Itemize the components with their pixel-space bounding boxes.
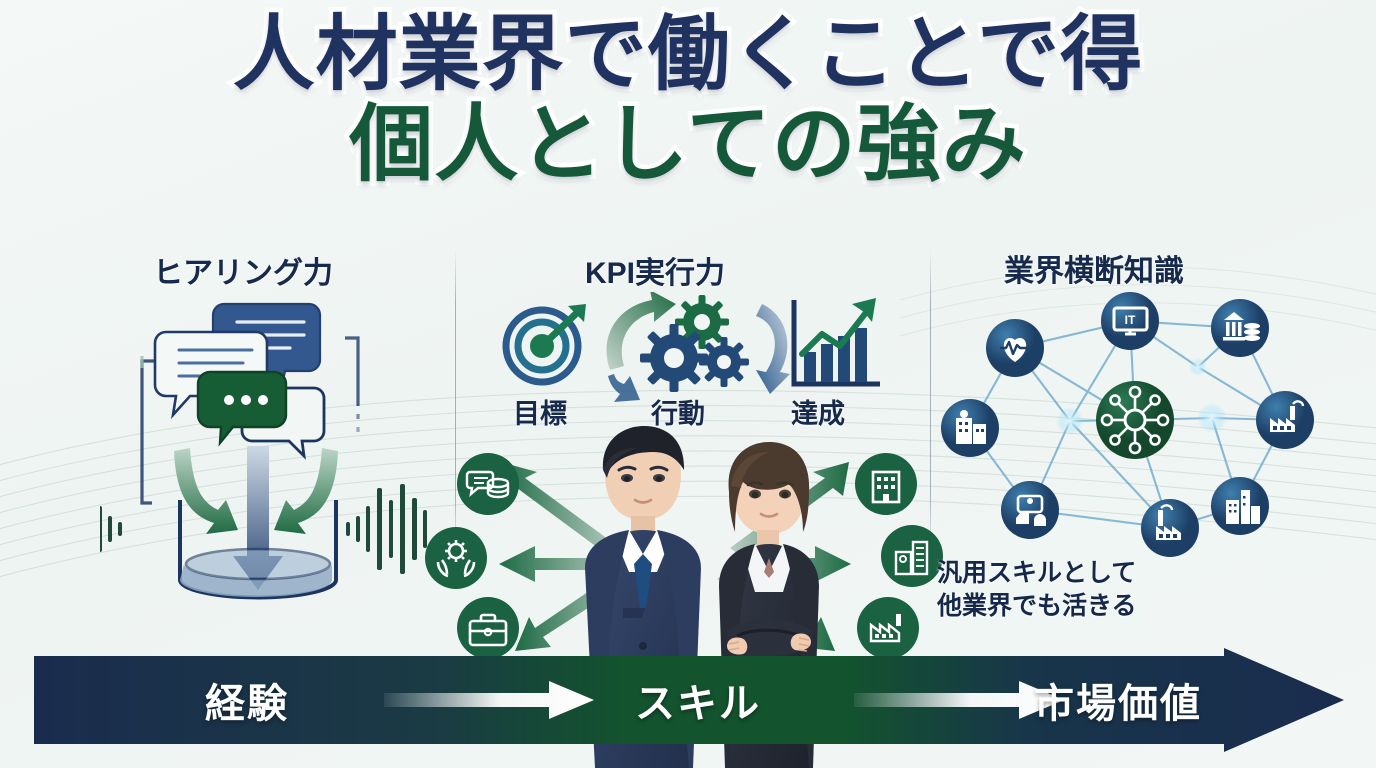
transferable-skills-note: 汎用スキルとして 他業界でも活きる [937,557,1137,623]
page-title: 人材業界で働くことで得 個人としての強み [0,14,1376,186]
it-monitor-icon: IT [1101,292,1159,350]
city-building-icon [1211,477,1269,535]
title-line-1: 人材業界で働くことで得 [0,14,1376,96]
bar-chart-growth-icon [794,298,880,384]
hub-icon [1096,381,1174,459]
city-buildings-chip-icon [880,524,944,588]
banner-stage-experience: 経験 [205,648,289,752]
title-line-2: 個人としての強み [0,102,1376,186]
kpi-cycle-illustration [492,292,892,402]
factory-icon [1256,391,1314,449]
column-heading-kpi: KPI実行力 [585,248,725,292]
banner-stage-market-value: 市場価値 [1034,648,1202,752]
industry-network-illustration: IT [930,288,1330,568]
factory-2-icon [1141,499,1199,557]
banner-stage-skill: スキル [635,648,761,752]
hearing-illustration [100,288,430,613]
infographic-canvas: 人材業界で働くことで得 個人としての強み ヒアリング力 KPI実行力 業界横断知… [0,0,1376,768]
note-line-2: 他業界でも活きる [937,592,1137,620]
svg-text:IT: IT [1125,313,1136,327]
waveform-left-icon [100,484,122,574]
target-icon [506,304,586,382]
note-line-1: 汎用スキルとして [937,559,1136,587]
office-building-icon [941,399,999,457]
retail-icon [1001,481,1059,539]
chat-database-icon [456,452,520,516]
value-chain-banner: 経験 スキル 市場価値 [34,648,1344,752]
waveform-right-icon [346,484,430,574]
heartbeat-icon [986,319,1044,377]
gear-in-hands-icon [424,526,488,590]
column-heading-hearing: ヒアリング力 [153,248,333,292]
bank-icon [1211,299,1269,357]
column-heading-cross-industry: 業界横断知識 [1004,246,1184,290]
